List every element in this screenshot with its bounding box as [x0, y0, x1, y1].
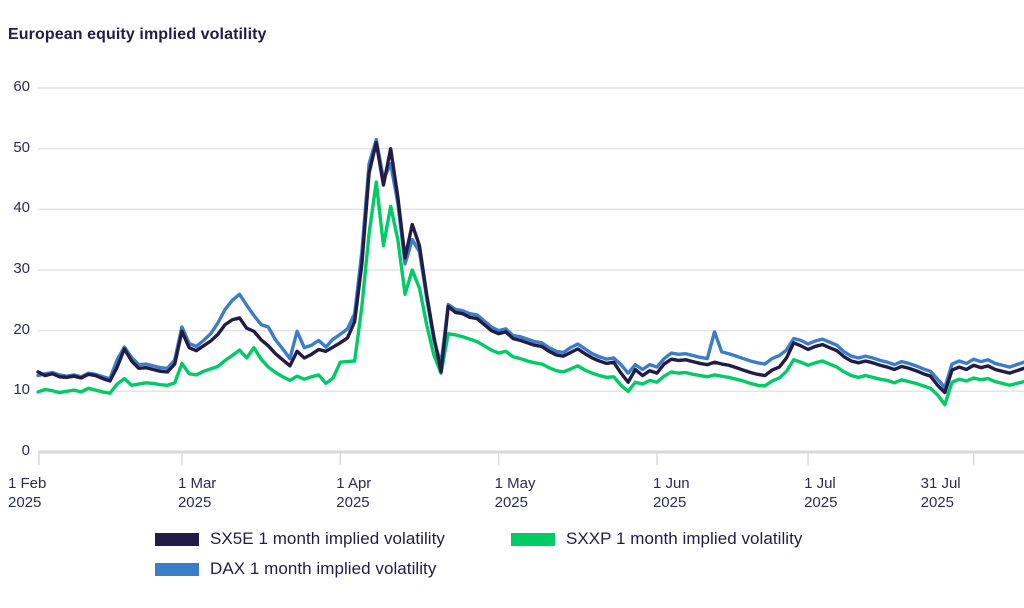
y-tick-label-40: 40: [0, 199, 30, 216]
chart-title: European equity implied volatility: [8, 26, 267, 44]
x-tick-label-year: 2025: [8, 493, 46, 512]
x-axis-ticks: [39, 454, 974, 466]
legend-item-sx5e[interactable]: SX5E 1 month implied volatility: [155, 529, 445, 549]
x-tick-label-date: 1 Mar: [178, 474, 216, 493]
x-tick-label-year: 2025: [336, 493, 371, 512]
chart-legend: SX5E 1 month implied volatility SXXP 1 m…: [155, 524, 985, 584]
legend-swatch-dax: [155, 563, 199, 576]
series-line-sx5e: [38, 143, 1024, 393]
y-tick-label-20: 20: [0, 321, 30, 338]
x-tick-label-year: 2025: [178, 493, 216, 512]
x-tick-label-year: 2025: [921, 493, 961, 512]
legend-swatch-sxxp: [511, 533, 555, 546]
series-line-sxxp: [38, 182, 1024, 405]
legend-label-sx5e: SX5E 1 month implied volatility: [210, 529, 445, 549]
legend-item-dax[interactable]: DAX 1 month implied volatility: [155, 559, 436, 579]
plot-area: [0, 70, 1024, 470]
legend-row-2: DAX 1 month implied volatility: [155, 554, 985, 584]
y-tick-label-10: 10: [0, 381, 30, 398]
line-chart-svg: [0, 70, 1024, 470]
legend-row-1: SX5E 1 month implied volatility SXXP 1 m…: [155, 524, 985, 554]
legend-swatch-sx5e: [155, 533, 199, 546]
x-tick-label-5: 1 Jul2025: [804, 474, 837, 512]
series-line-dax: [38, 140, 1024, 388]
x-tick-label-6: 31 Jul2025: [921, 474, 961, 512]
y-tick-label-50: 50: [0, 139, 30, 156]
y-tick-label-60: 60: [0, 78, 30, 95]
y-tick-label-30: 30: [0, 260, 30, 277]
x-tick-label-date: 1 Jun: [653, 474, 690, 493]
x-tick-label-2: 1 Apr2025: [336, 474, 371, 512]
x-tick-label-date: 1 Feb: [8, 474, 46, 493]
x-tick-label-1: 1 Mar2025: [178, 474, 216, 512]
chart-page: European equity implied volatility 60504…: [0, 0, 1024, 608]
y-tick-label-0: 0: [0, 442, 30, 459]
x-tick-label-0: 1 Feb2025: [8, 474, 46, 512]
x-tick-label-date: 31 Jul: [921, 474, 961, 493]
series-lines: [38, 140, 1024, 405]
x-tick-label-3: 1 May2025: [495, 474, 536, 512]
x-tick-label-date: 1 Apr: [336, 474, 371, 493]
legend-label-dax: DAX 1 month implied volatility: [210, 559, 436, 579]
x-tick-label-year: 2025: [653, 493, 690, 512]
legend-label-sxxp: SXXP 1 month implied volatility: [566, 529, 803, 549]
x-tick-label-4: 1 Jun2025: [653, 474, 690, 512]
x-tick-label-year: 2025: [804, 493, 837, 512]
x-tick-label-date: 1 May: [495, 474, 536, 493]
gridlines: [38, 88, 1024, 452]
x-tick-label-year: 2025: [495, 493, 536, 512]
x-tick-label-date: 1 Jul: [804, 474, 837, 493]
legend-item-sxxp[interactable]: SXXP 1 month implied volatility: [511, 529, 803, 549]
